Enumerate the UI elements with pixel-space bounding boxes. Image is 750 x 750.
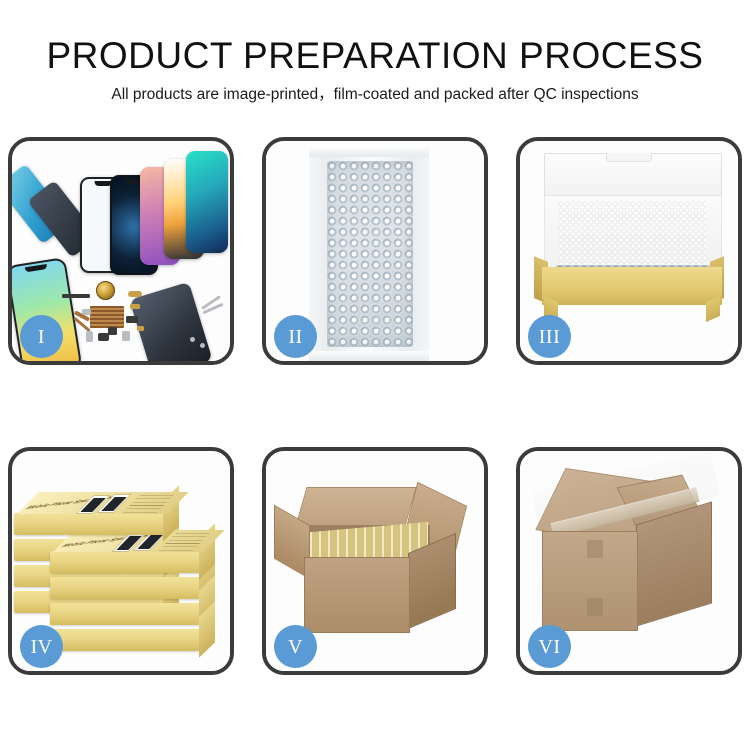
step-badge-2: II — [274, 315, 317, 358]
connector-part — [130, 304, 140, 309]
panel-step-6[interactable]: VI — [516, 447, 742, 675]
carton-front-wall — [304, 557, 410, 633]
panel-step-2[interactable]: II — [262, 137, 488, 365]
logic-board-icon — [90, 306, 124, 328]
carton-flap-seam — [587, 598, 603, 616]
step-badge-6: VI — [528, 625, 571, 668]
step-badge-4: IV — [20, 625, 63, 668]
screw-part — [190, 337, 195, 342]
flex-cable-part — [62, 294, 90, 298]
shield-can-part — [82, 309, 91, 315]
retail-box — [50, 603, 200, 625]
speaker-part — [126, 316, 138, 323]
sim-tray-part — [86, 331, 93, 342]
panel-step-5[interactable]: V — [262, 447, 488, 675]
step-badge-5: V — [274, 625, 317, 668]
panel-step-3[interactable]: III — [516, 137, 742, 365]
connector-part — [128, 291, 142, 297]
process-step-grid: I II III — [8, 137, 742, 682]
panel-step-4[interactable]: Mobile Phone Spare Parts Mobile Phone Sp… — [8, 447, 234, 675]
box-top-face: Mobile Phone Spare Parts — [17, 492, 188, 514]
step-badge-1: I — [20, 315, 63, 358]
phone-notch-icon — [95, 181, 112, 186]
retail-box — [50, 577, 200, 599]
page-title: PRODUCT PREPARATION PROCESS — [0, 0, 750, 78]
carton-front-wall — [542, 531, 638, 631]
page-header: PRODUCT PREPARATION PROCESS All products… — [0, 0, 750, 128]
camera-lens-icon — [96, 281, 115, 300]
retail-box-labelled: Mobile Phone Spare Parts — [14, 513, 164, 535]
retail-box — [50, 629, 200, 651]
step-badge-3: III — [528, 315, 571, 358]
bubble-wrap-texture — [327, 161, 413, 347]
button-part — [122, 331, 130, 341]
retail-box-labelled: Mobile Phone Spare Parts — [50, 551, 200, 573]
screw-part — [200, 343, 205, 348]
phone-green-device-icon — [186, 151, 228, 253]
carton-right-wall — [636, 501, 712, 626]
panel-step-1[interactable]: I — [8, 137, 234, 365]
bubble-wrap-pouch — [309, 147, 429, 361]
box-label-checklist — [122, 493, 175, 513]
vibrator-part — [108, 327, 117, 335]
mailer-front-wall — [542, 267, 722, 305]
screw-part — [137, 326, 144, 331]
camera-module-part — [98, 333, 109, 341]
pouch-top-seal — [309, 147, 429, 157]
phone-notch-icon — [25, 264, 48, 272]
pouch-bottom-seal — [309, 351, 429, 361]
carton-flap-seam — [587, 540, 603, 558]
foam-sheet — [558, 201, 706, 271]
page-subtitle: All products are image-printed，film-coat… — [0, 78, 750, 105]
